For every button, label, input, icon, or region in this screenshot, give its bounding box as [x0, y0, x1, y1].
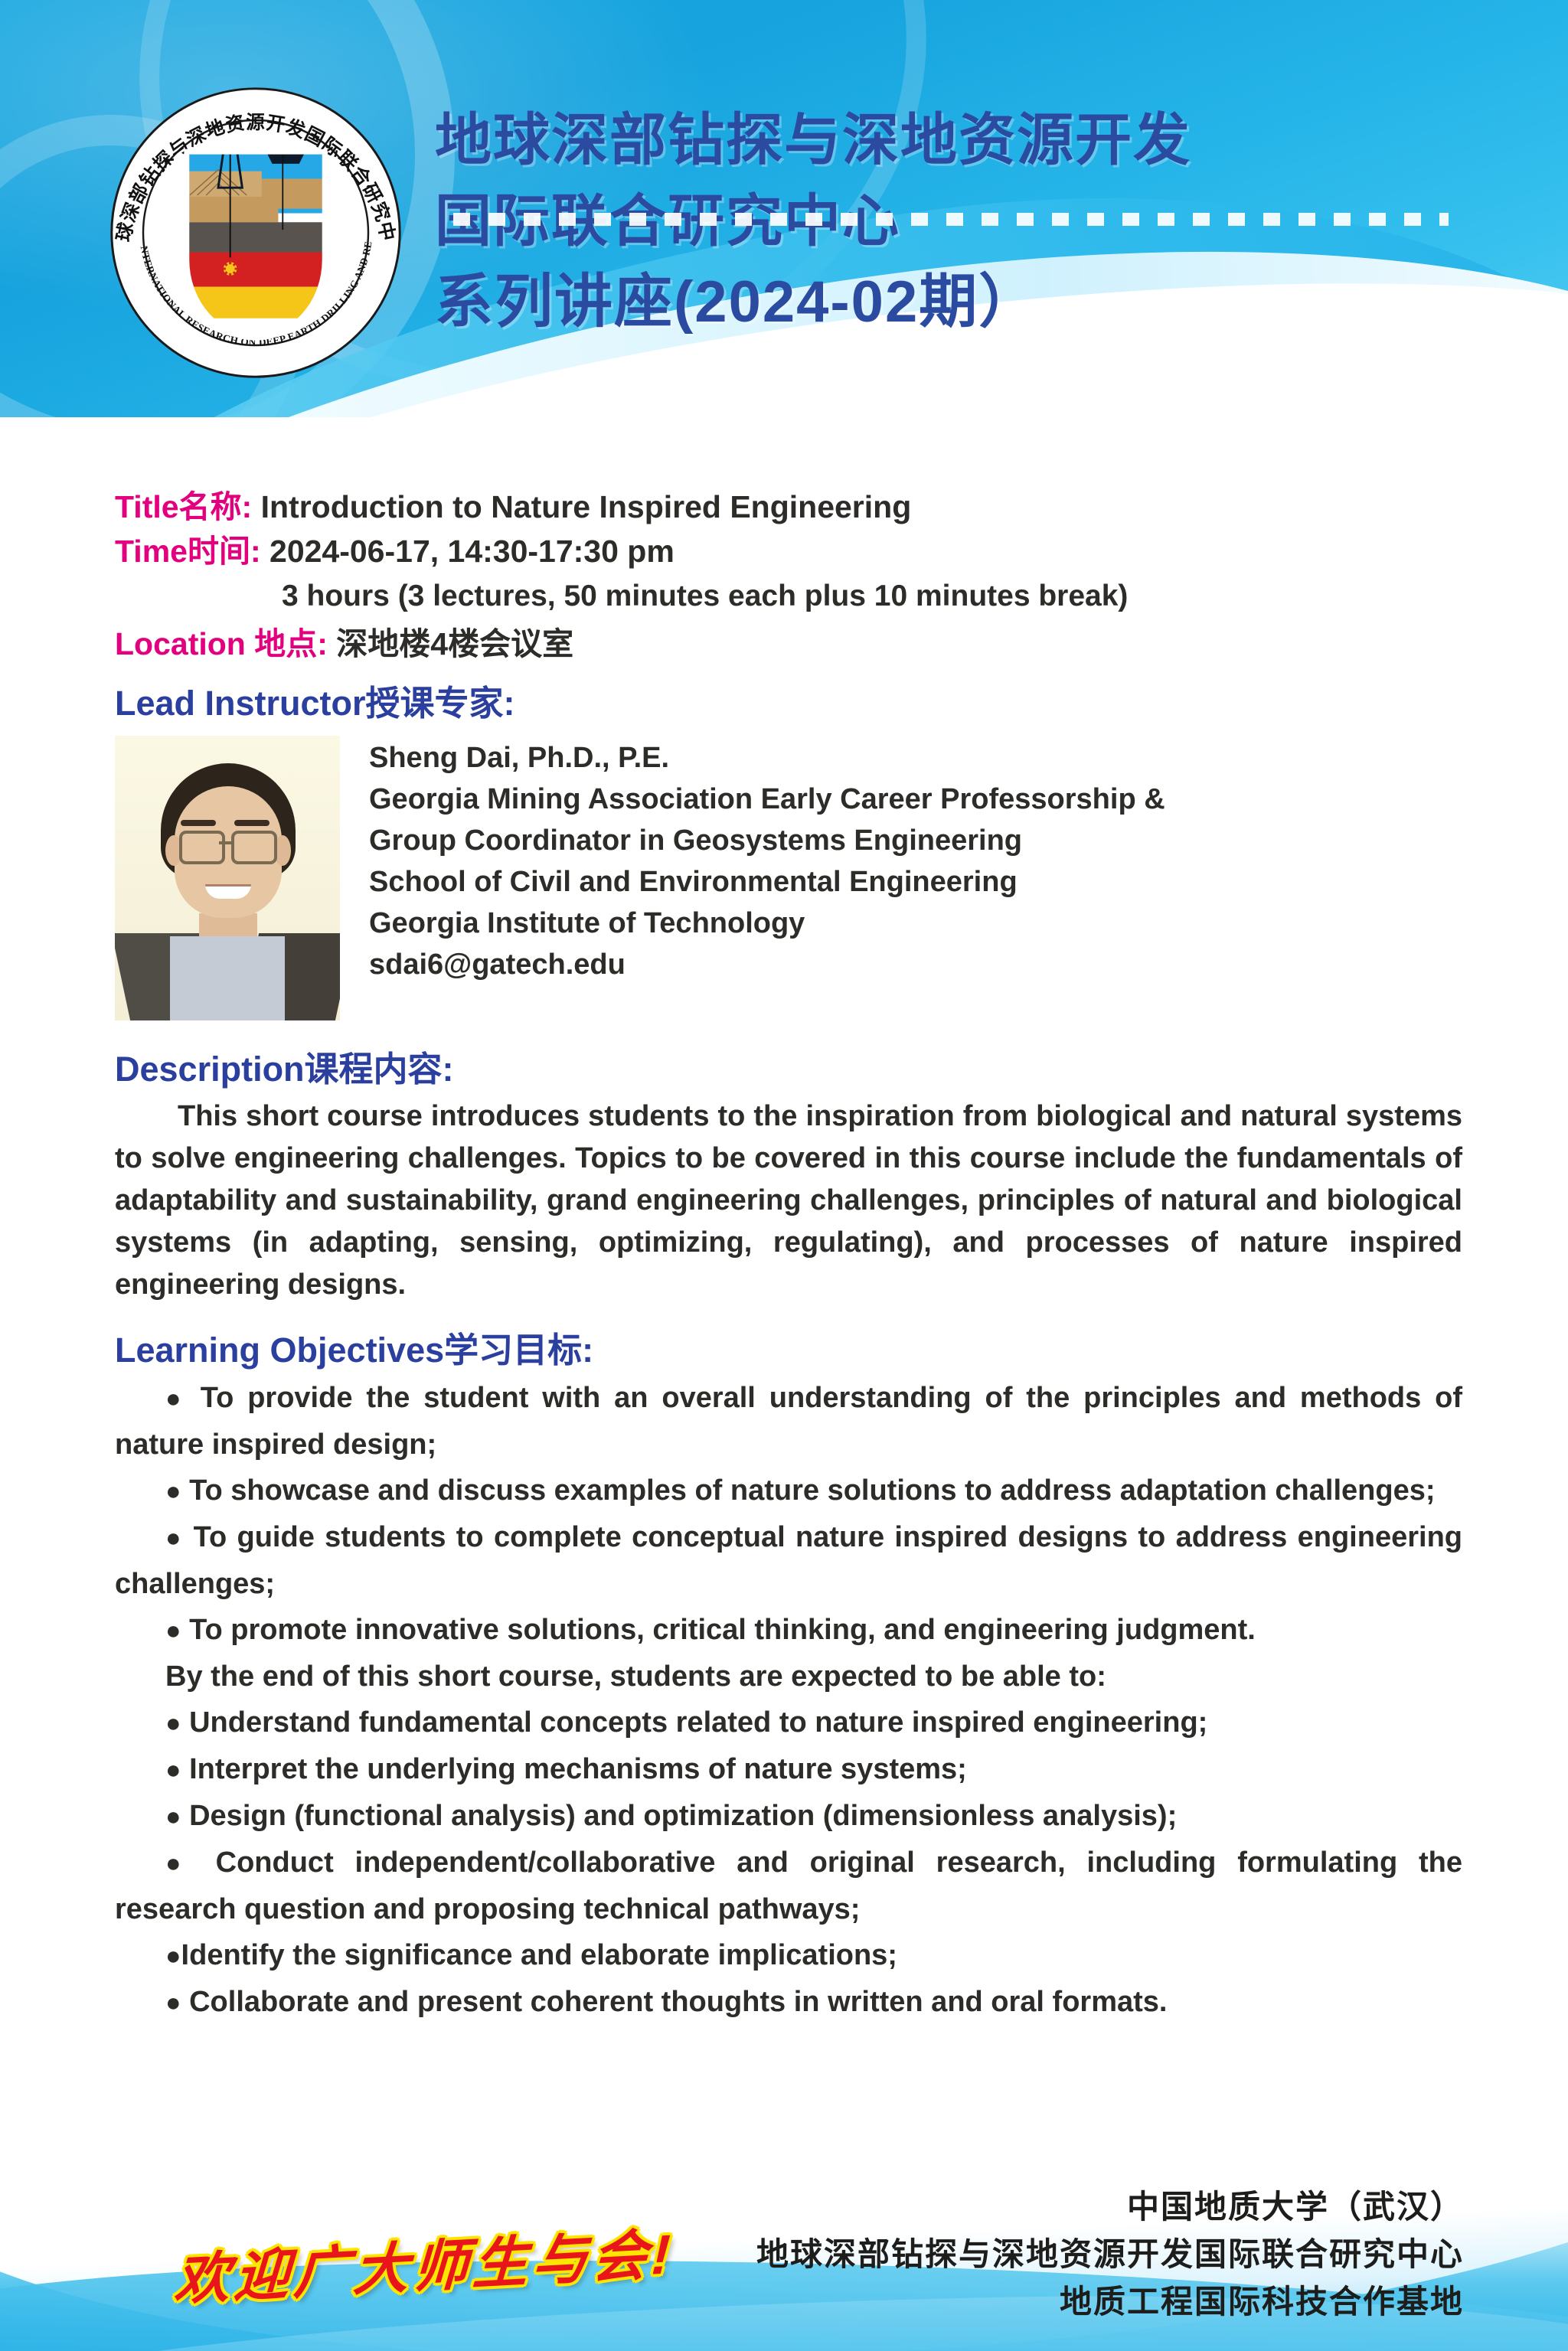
footer-organizations: 中国地质大学（武汉） 地球深部钻探与深地资源开发国际联合研究中心 地质工程国际科… [756, 2183, 1464, 2326]
center-logo-icon: 地球深部钻探与深地资源开发国际联合研究中心 NATIONAL CENTER FO… [106, 83, 406, 383]
instructor-line: Sheng Dai, Ph.D., P.E. [369, 737, 1456, 779]
bullet-icon: ● [165, 1988, 181, 2017]
footer-org-line-1: 中国地质大学（武汉） [756, 2183, 1464, 2231]
header-dashed-divider [453, 213, 1449, 226]
title-row: Title名称: Introduction to Nature Inspired… [115, 485, 1462, 529]
objective-item: ● To provide the student with an overall… [115, 1375, 1462, 1468]
outcome-item: ● Understand fundamental concepts relate… [115, 1700, 1462, 1746]
time-row: Time时间: 2024-06-17, 14:30-17:30 pm [115, 529, 1462, 573]
instructor-block: Sheng Dai, Ph.D., P.E. Georgia Mining As… [115, 736, 1462, 1025]
poster-header: 地球深部钻探与深地资源开发国际联合研究中心 NATIONAL CENTER FO… [0, 0, 1568, 429]
outcome-item: ●Identify the significance and elaborate… [115, 1932, 1462, 1979]
time-label: Time时间: [115, 534, 261, 569]
instructor-email: sdai6@gatech.edu [369, 944, 1456, 985]
outcome-text: Understand fundamental concepts related … [189, 1706, 1207, 1739]
poster-body: Title名称: Introduction to Nature Inspired… [0, 417, 1568, 2178]
objective-text: To promote innovative solutions, critica… [189, 1614, 1256, 1646]
bullet-icon: ● [165, 1477, 181, 1506]
outcome-item: ● Collaborate and present coherent thoug… [115, 1979, 1462, 2026]
bullet-icon: ● [165, 1755, 181, 1784]
outcome-text: Conduct independent/collaborative and or… [115, 1847, 1462, 1925]
footer-org-line-2: 地球深部钻探与深地资源开发国际联合研究中心 [756, 2231, 1464, 2278]
outcomes-intro: By the end of this short course, student… [115, 1654, 1462, 1700]
bullet-icon: ● [165, 1523, 183, 1553]
bullet-icon: ● [165, 1941, 181, 1971]
bullet-icon: ● [165, 1616, 181, 1645]
location-value: 深地楼4楼会议室 [336, 626, 573, 661]
header-title-line-1: 地球深部钻探与深地资源开发 [435, 100, 1191, 181]
duration-row: 3 hours (3 lectures, 50 minutes each plu… [115, 573, 1462, 619]
title-value: Introduction to Nature Inspired Engineer… [261, 489, 912, 524]
description-paragraph: This short course introduces students to… [115, 1096, 1462, 1306]
objective-text: To showcase and discuss examples of natu… [189, 1474, 1435, 1507]
footer-org-line-3: 地质工程国际科技合作基地 [756, 2278, 1464, 2326]
poster-footer: 欢迎广大师生与会! 中国地质大学（武汉） 地球深部钻探与深地资源开发国际联合研究… [0, 2167, 1568, 2351]
instructor-line: Georgia Institute of Technology [369, 903, 1456, 944]
location-label: Location 地点: [115, 626, 328, 661]
time-value: 2024-06-17, 14:30-17:30 pm [269, 534, 675, 569]
bullet-icon: ● [165, 1849, 194, 1878]
objective-item: ● To promote innovative solutions, criti… [115, 1607, 1462, 1654]
instructor-label: Lead Instructor授课专家: [115, 684, 515, 723]
outcome-item: ● Conduct independent/collaborative and … [115, 1840, 1462, 1932]
instructor-line: Georgia Mining Association Early Career … [369, 779, 1456, 820]
instructor-line: Group Coordinator in Geosystems Engineer… [369, 820, 1456, 861]
objective-item: ● To guide students to complete conceptu… [115, 1514, 1462, 1607]
outcome-item: ● Design (functional analysis) and optim… [115, 1793, 1462, 1840]
objective-item: ● To showcase and discuss examples of na… [115, 1468, 1462, 1514]
location-row: Location 地点: 深地楼4楼会议室 [115, 621, 1462, 667]
outcome-text: Interpret the underlying mechanisms of n… [189, 1753, 967, 1785]
instructor-line: School of Civil and Environmental Engine… [369, 861, 1456, 903]
description-heading: Description课程内容: [115, 1045, 1462, 1094]
bullet-icon: ● [165, 1384, 187, 1413]
outcome-text: Identify the significance and elaborate … [181, 1939, 897, 1971]
objective-text: To guide students to complete conceptual… [115, 1521, 1462, 1600]
instructor-photo [115, 736, 340, 1020]
learning-objectives-heading: Learning Objectives学习目标: [115, 1326, 1462, 1375]
outcome-item: ● Interpret the underlying mechanisms of… [115, 1746, 1462, 1793]
instructor-details: Sheng Dai, Ph.D., P.E. Georgia Mining As… [369, 737, 1456, 985]
outcome-text: Design (functional analysis) and optimiz… [189, 1800, 1177, 1832]
bullet-icon: ● [165, 1802, 181, 1831]
lecture-poster: 地球深部钻探与深地资源开发国际联合研究中心 NATIONAL CENTER FO… [0, 0, 1568, 2351]
header-title-line-3: 系列讲座(2024-02期） [435, 262, 1191, 343]
objective-text: To provide the student with an overall u… [115, 1382, 1462, 1461]
bullet-icon: ● [165, 1709, 181, 1738]
instructor-heading: Lead Instructor授课专家: [115, 676, 1462, 731]
outcome-text: Collaborate and present coherent thought… [189, 1986, 1167, 2018]
title-label: Title名称: [115, 489, 252, 524]
